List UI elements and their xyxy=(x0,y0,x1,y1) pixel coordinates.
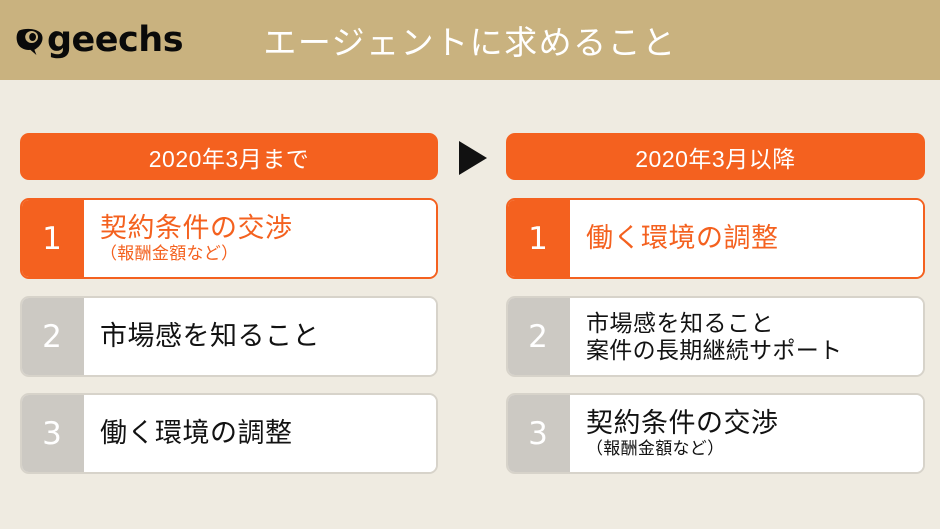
leaf-eye-logo-icon xyxy=(16,24,46,56)
list-item-body: 働く環境の調整 xyxy=(570,200,923,277)
list-item-body: 契約条件の交渉 （報酬金額など） xyxy=(570,395,923,472)
triangle-right-icon xyxy=(459,141,487,175)
list-item[interactable]: 2 市場感を知ること xyxy=(20,296,438,377)
list-item-subtitle: （報酬金額など） xyxy=(586,438,915,460)
rank-badge: 1 xyxy=(506,198,570,279)
list-item[interactable]: 1 働く環境の調整 xyxy=(506,198,925,279)
rank-badge: 2 xyxy=(20,296,84,377)
column-after: 2020年3月以降 1 働く環境の調整 2 市場感を知ること 案件の長期継続サポ… xyxy=(506,133,925,180)
column-before: 2020年3月まで 1 契約条件の交渉 （報酬金額など） 2 市場感を知ること … xyxy=(20,133,438,180)
slide-canvas: geechs エージェントに求めること 2020年3月まで 1 契約条件の交渉 … xyxy=(0,0,940,529)
list-item[interactable]: 1 契約条件の交渉 （報酬金額など） xyxy=(20,198,438,279)
list-item-title: 契約条件の交渉 xyxy=(100,213,428,243)
brand-logo: geechs xyxy=(16,18,183,62)
list-item-subtitle: 案件の長期継続サポート xyxy=(586,337,915,364)
list-item-title: 契約条件の交渉 xyxy=(586,408,915,438)
list-item[interactable]: 3 働く環境の調整 xyxy=(20,393,438,474)
rank-badge: 3 xyxy=(20,393,84,474)
rank-badge: 3 xyxy=(506,393,570,474)
list-item-body: 市場感を知ること xyxy=(84,298,436,375)
list-item-subtitle: （報酬金額など） xyxy=(100,243,428,265)
list-item-title: 働く環境の調整 xyxy=(586,223,915,254)
list-item-body: 働く環境の調整 xyxy=(84,395,436,472)
list-item-body: 契約条件の交渉 （報酬金額など） xyxy=(84,200,436,277)
list-item-body: 市場感を知ること 案件の長期継続サポート xyxy=(570,298,923,375)
brand-name: geechs xyxy=(47,23,183,58)
list-item-title: 働く環境の調整 xyxy=(100,418,428,449)
list-item[interactable]: 3 契約条件の交渉 （報酬金額など） xyxy=(506,393,925,474)
column-header-before: 2020年3月まで xyxy=(20,133,438,180)
rank-badge: 1 xyxy=(20,198,84,279)
rank-badge: 2 xyxy=(506,296,570,377)
list-item-title: 市場感を知ること xyxy=(586,310,915,337)
list-item[interactable]: 2 市場感を知ること 案件の長期継続サポート xyxy=(506,296,925,377)
column-header-after: 2020年3月以降 xyxy=(506,133,925,180)
list-item-title: 市場感を知ること xyxy=(100,321,428,352)
